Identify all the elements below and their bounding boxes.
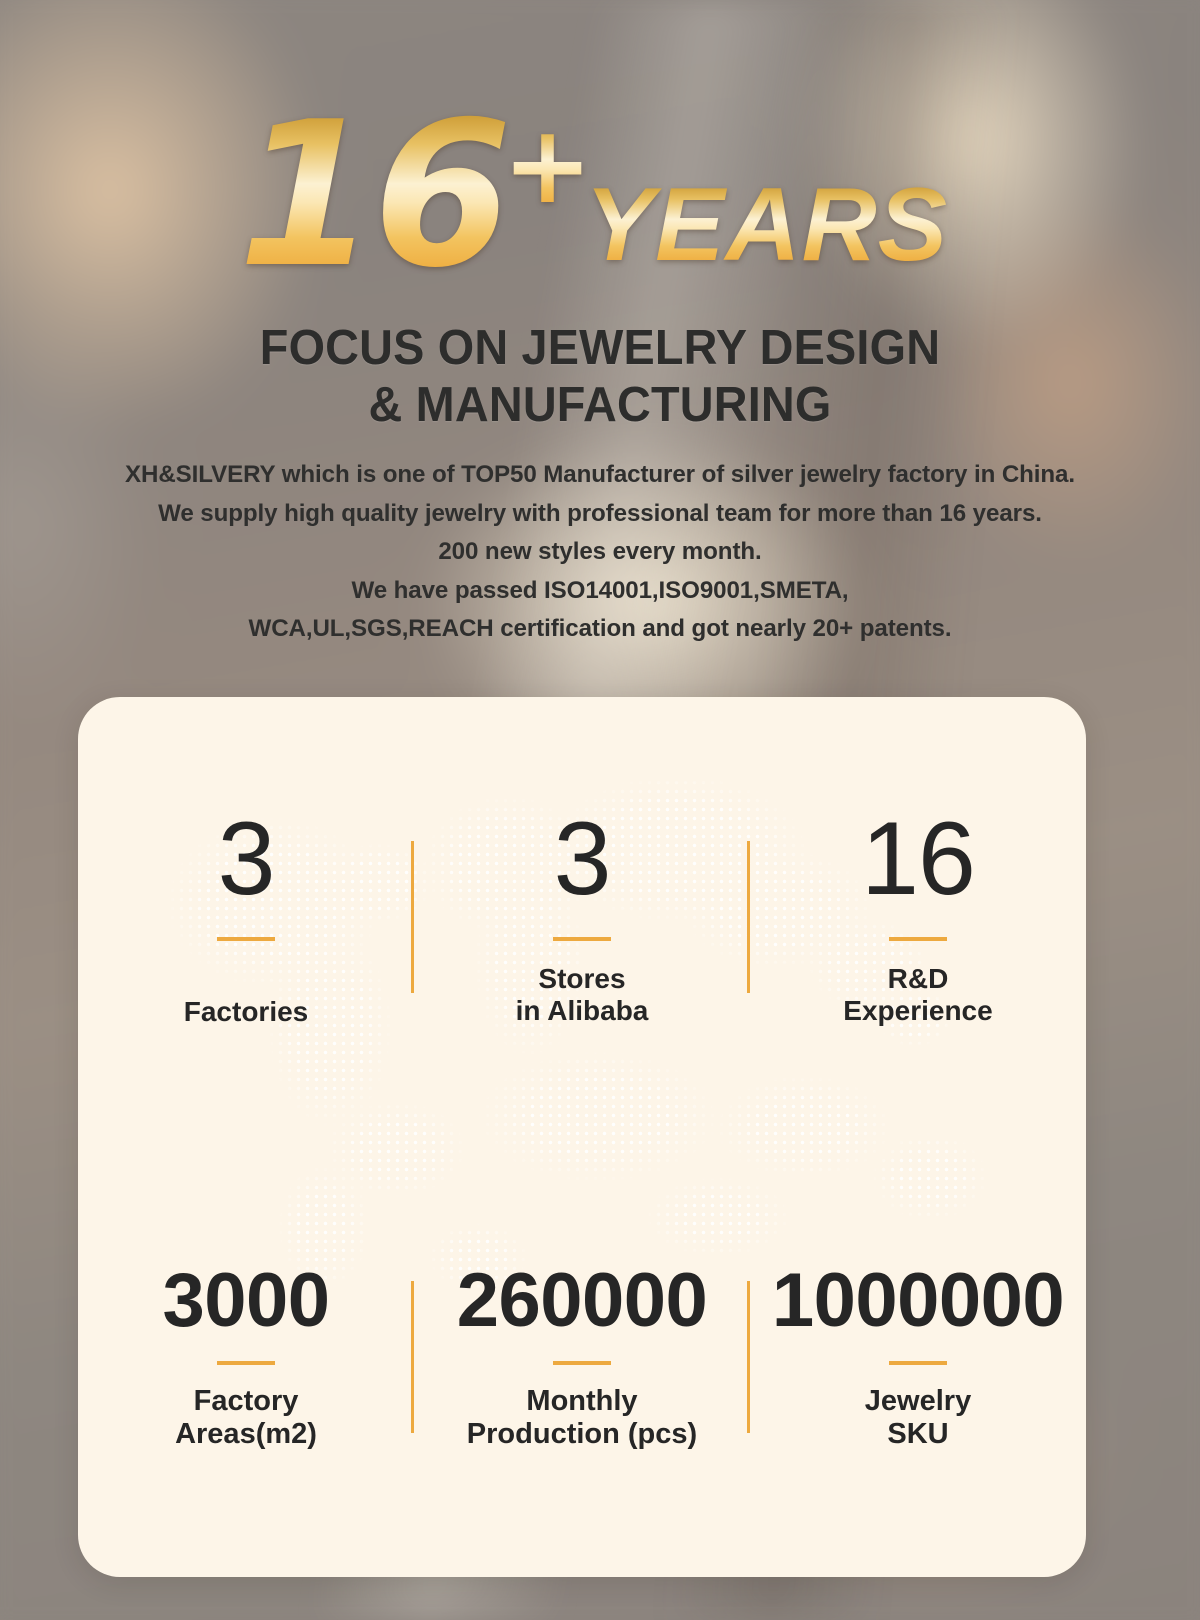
stat-label: Factories	[184, 996, 309, 1028]
stats-grid: 3 Factories 3 Stores in Alibaba 16 R&D E…	[78, 697, 1086, 1577]
stat-monthly-production: 260000 Monthly Production (pcs)	[414, 1137, 750, 1577]
stat-underline	[889, 1361, 947, 1365]
subheading-line-2: & MANUFACTURING	[27, 377, 1173, 434]
stat-stores-in-alibaba: 3 Stores in Alibaba	[414, 697, 750, 1137]
stat-label: Factory Areas(m2)	[175, 1385, 317, 1451]
hero-headline: 16+YEARS	[0, 96, 1200, 296]
intro-line-2: We supply high quality jewelry with prof…	[9, 495, 1191, 534]
intro-line-1: XH&SILVERY which is one of TOP50 Manufac…	[9, 456, 1191, 495]
hero-subheading: FOCUS ON JEWELRY DESIGN & MANUFACTURING	[27, 320, 1173, 434]
stat-label: R&D Experience	[843, 963, 992, 1027]
hero-years-word: YEARS	[585, 167, 948, 283]
stat-value: 3	[554, 807, 611, 911]
stat-value: 3000	[162, 1263, 329, 1339]
stat-value: 16	[861, 807, 975, 911]
stat-value: 260000	[457, 1263, 708, 1339]
stat-label: Jewelry SKU	[865, 1385, 971, 1451]
stat-underline	[217, 1361, 275, 1365]
stat-rd-experience: 16 R&D Experience	[750, 697, 1086, 1137]
intro-line-4: We have passed ISO14001,ISO9001,SMETA,	[9, 572, 1191, 611]
stat-underline	[889, 937, 947, 941]
intro-line-5: WCA,UL,SGS,REACH certification and got n…	[9, 610, 1191, 649]
stat-factory-areas: 3000 Factory Areas(m2)	[78, 1137, 414, 1577]
subheading-line-1: FOCUS ON JEWELRY DESIGN	[27, 320, 1173, 377]
promo-banner: 16+YEARS FOCUS ON JEWELRY DESIGN & MANUF…	[0, 0, 1200, 1620]
stats-card: 3 Factories 3 Stores in Alibaba 16 R&D E…	[78, 697, 1086, 1577]
stat-value: 3	[218, 807, 275, 911]
stat-jewelry-sku: 1000000 Jewelry SKU	[750, 1137, 1086, 1577]
stat-underline	[217, 937, 275, 941]
intro-line-3: 200 new styles every month.	[9, 533, 1191, 572]
intro-paragraph: XH&SILVERY which is one of TOP50 Manufac…	[9, 456, 1191, 649]
hero-plus-symbol: +	[502, 103, 593, 228]
stat-underline	[553, 1361, 611, 1365]
stat-label: Stores in Alibaba	[516, 963, 649, 1027]
hero-years-number: 16	[238, 79, 508, 312]
stat-factories: 3 Factories	[78, 697, 414, 1137]
stat-underline	[553, 937, 611, 941]
stat-label: Monthly Production (pcs)	[467, 1385, 697, 1451]
stat-value: 1000000	[772, 1263, 1064, 1339]
